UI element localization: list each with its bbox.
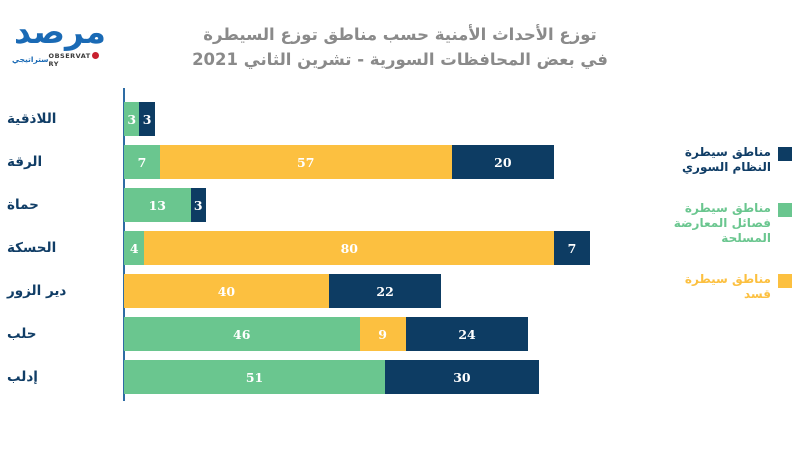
category-label: الحسكة xyxy=(7,240,117,256)
chart-plot-area: اللاذقية33الرقة75720حماة133الحسكة4807دير… xyxy=(0,88,640,406)
logo-latin-part2: RY xyxy=(49,60,59,68)
category-label: إدلب xyxy=(7,369,117,385)
bar-segment: 4 xyxy=(124,231,144,265)
chart-page: مرصد ستراتيجي OBSERVATRY توزع الأحداث ال… xyxy=(0,0,800,450)
stacked-bar: 5130 xyxy=(124,360,539,394)
legend-swatch-icon xyxy=(778,274,792,288)
legend-label-line-1: مناطق سيطرة xyxy=(682,145,771,160)
legend-label-line-1: مناطق سيطرة xyxy=(685,272,771,287)
legend-item-label: مناطق سيطرةقسد xyxy=(685,272,771,302)
bar-segment: 51 xyxy=(124,360,385,394)
legend-swatch-icon xyxy=(778,147,792,161)
legend-item-sdf[interactable]: مناطق سيطرةقسد xyxy=(632,272,792,302)
chart-row: حلب46924 xyxy=(0,317,640,351)
legend-label-line-2: فصائل المعارضة المسلحة xyxy=(632,216,771,246)
legend-label-line-1: مناطق سيطرة xyxy=(632,201,771,216)
category-label: الرقة xyxy=(7,154,117,170)
chart-row: الرقة75720 xyxy=(0,145,640,179)
logo-subtitle-arabic: ستراتيجي xyxy=(12,55,49,64)
bar-segment: 80 xyxy=(144,231,554,265)
bar-segment: 40 xyxy=(124,274,329,308)
chart-row: اللاذقية33 xyxy=(0,102,640,136)
chart-title: توزع الأحداث الأمنية حسب مناطق توزع السي… xyxy=(150,22,650,72)
chart-row: حماة133 xyxy=(0,188,640,222)
bar-segment: 9 xyxy=(360,317,406,351)
bar-segment: 3 xyxy=(124,102,139,136)
bar-segment: 24 xyxy=(406,317,529,351)
bar-segment: 30 xyxy=(385,360,539,394)
category-label: دير الزور xyxy=(7,283,117,299)
legend-item-label: مناطق سيطرةالنظام السوري xyxy=(682,145,771,175)
bar-segment: 13 xyxy=(124,188,191,222)
category-label: حماة xyxy=(7,197,117,213)
chart-row: الحسكة4807 xyxy=(0,231,640,265)
brand-logo: مرصد ستراتيجي OBSERVATRY xyxy=(12,14,108,64)
legend-item-regime[interactable]: مناطق سيطرةالنظام السوري xyxy=(632,145,792,175)
bar-segment: 46 xyxy=(124,317,360,351)
chart-legend: مناطق سيطرةالنظام السوريمناطق سيطرةفصائل… xyxy=(632,145,792,328)
stacked-bar: 4807 xyxy=(124,231,590,265)
bar-segment: 7 xyxy=(554,231,590,265)
chart-row: إدلب5130 xyxy=(0,360,640,394)
logo-wordmark: مرصد xyxy=(12,14,108,50)
chart-title-line-1: توزع الأحداث الأمنية حسب مناطق توزع السي… xyxy=(150,22,650,47)
logo-subtitle: ستراتيجي OBSERVATRY xyxy=(12,51,108,68)
bar-segment: 7 xyxy=(124,145,160,179)
stacked-bar: 33 xyxy=(124,102,155,136)
stacked-bar: 46924 xyxy=(124,317,528,351)
stacked-bar: 133 xyxy=(124,188,206,222)
bar-segment: 3 xyxy=(139,102,154,136)
bar-segment: 22 xyxy=(329,274,442,308)
legend-label-line-2: النظام السوري xyxy=(682,160,771,175)
bar-segment: 20 xyxy=(452,145,554,179)
logo-latin-part1: OBSERVAT xyxy=(49,52,91,60)
stacked-bar: 4022 xyxy=(124,274,441,308)
logo-dot-icon xyxy=(92,52,99,59)
legend-item-opposition[interactable]: مناطق سيطرةفصائل المعارضة المسلحة xyxy=(632,201,792,246)
bar-segment: 57 xyxy=(160,145,452,179)
chart-title-line-2: في بعض المحافظات السورية - تشرين الثاني … xyxy=(150,47,650,72)
category-label: اللاذقية xyxy=(7,111,117,127)
stacked-bar: 75720 xyxy=(124,145,554,179)
bar-segment: 3 xyxy=(191,188,206,222)
chart-row: دير الزور4022 xyxy=(0,274,640,308)
logo-subtitle-latin: OBSERVATRY xyxy=(49,51,108,68)
legend-swatch-icon xyxy=(778,203,792,217)
category-label: حلب xyxy=(7,326,117,342)
legend-label-line-2: قسد xyxy=(685,287,771,302)
legend-item-label: مناطق سيطرةفصائل المعارضة المسلحة xyxy=(632,201,771,246)
